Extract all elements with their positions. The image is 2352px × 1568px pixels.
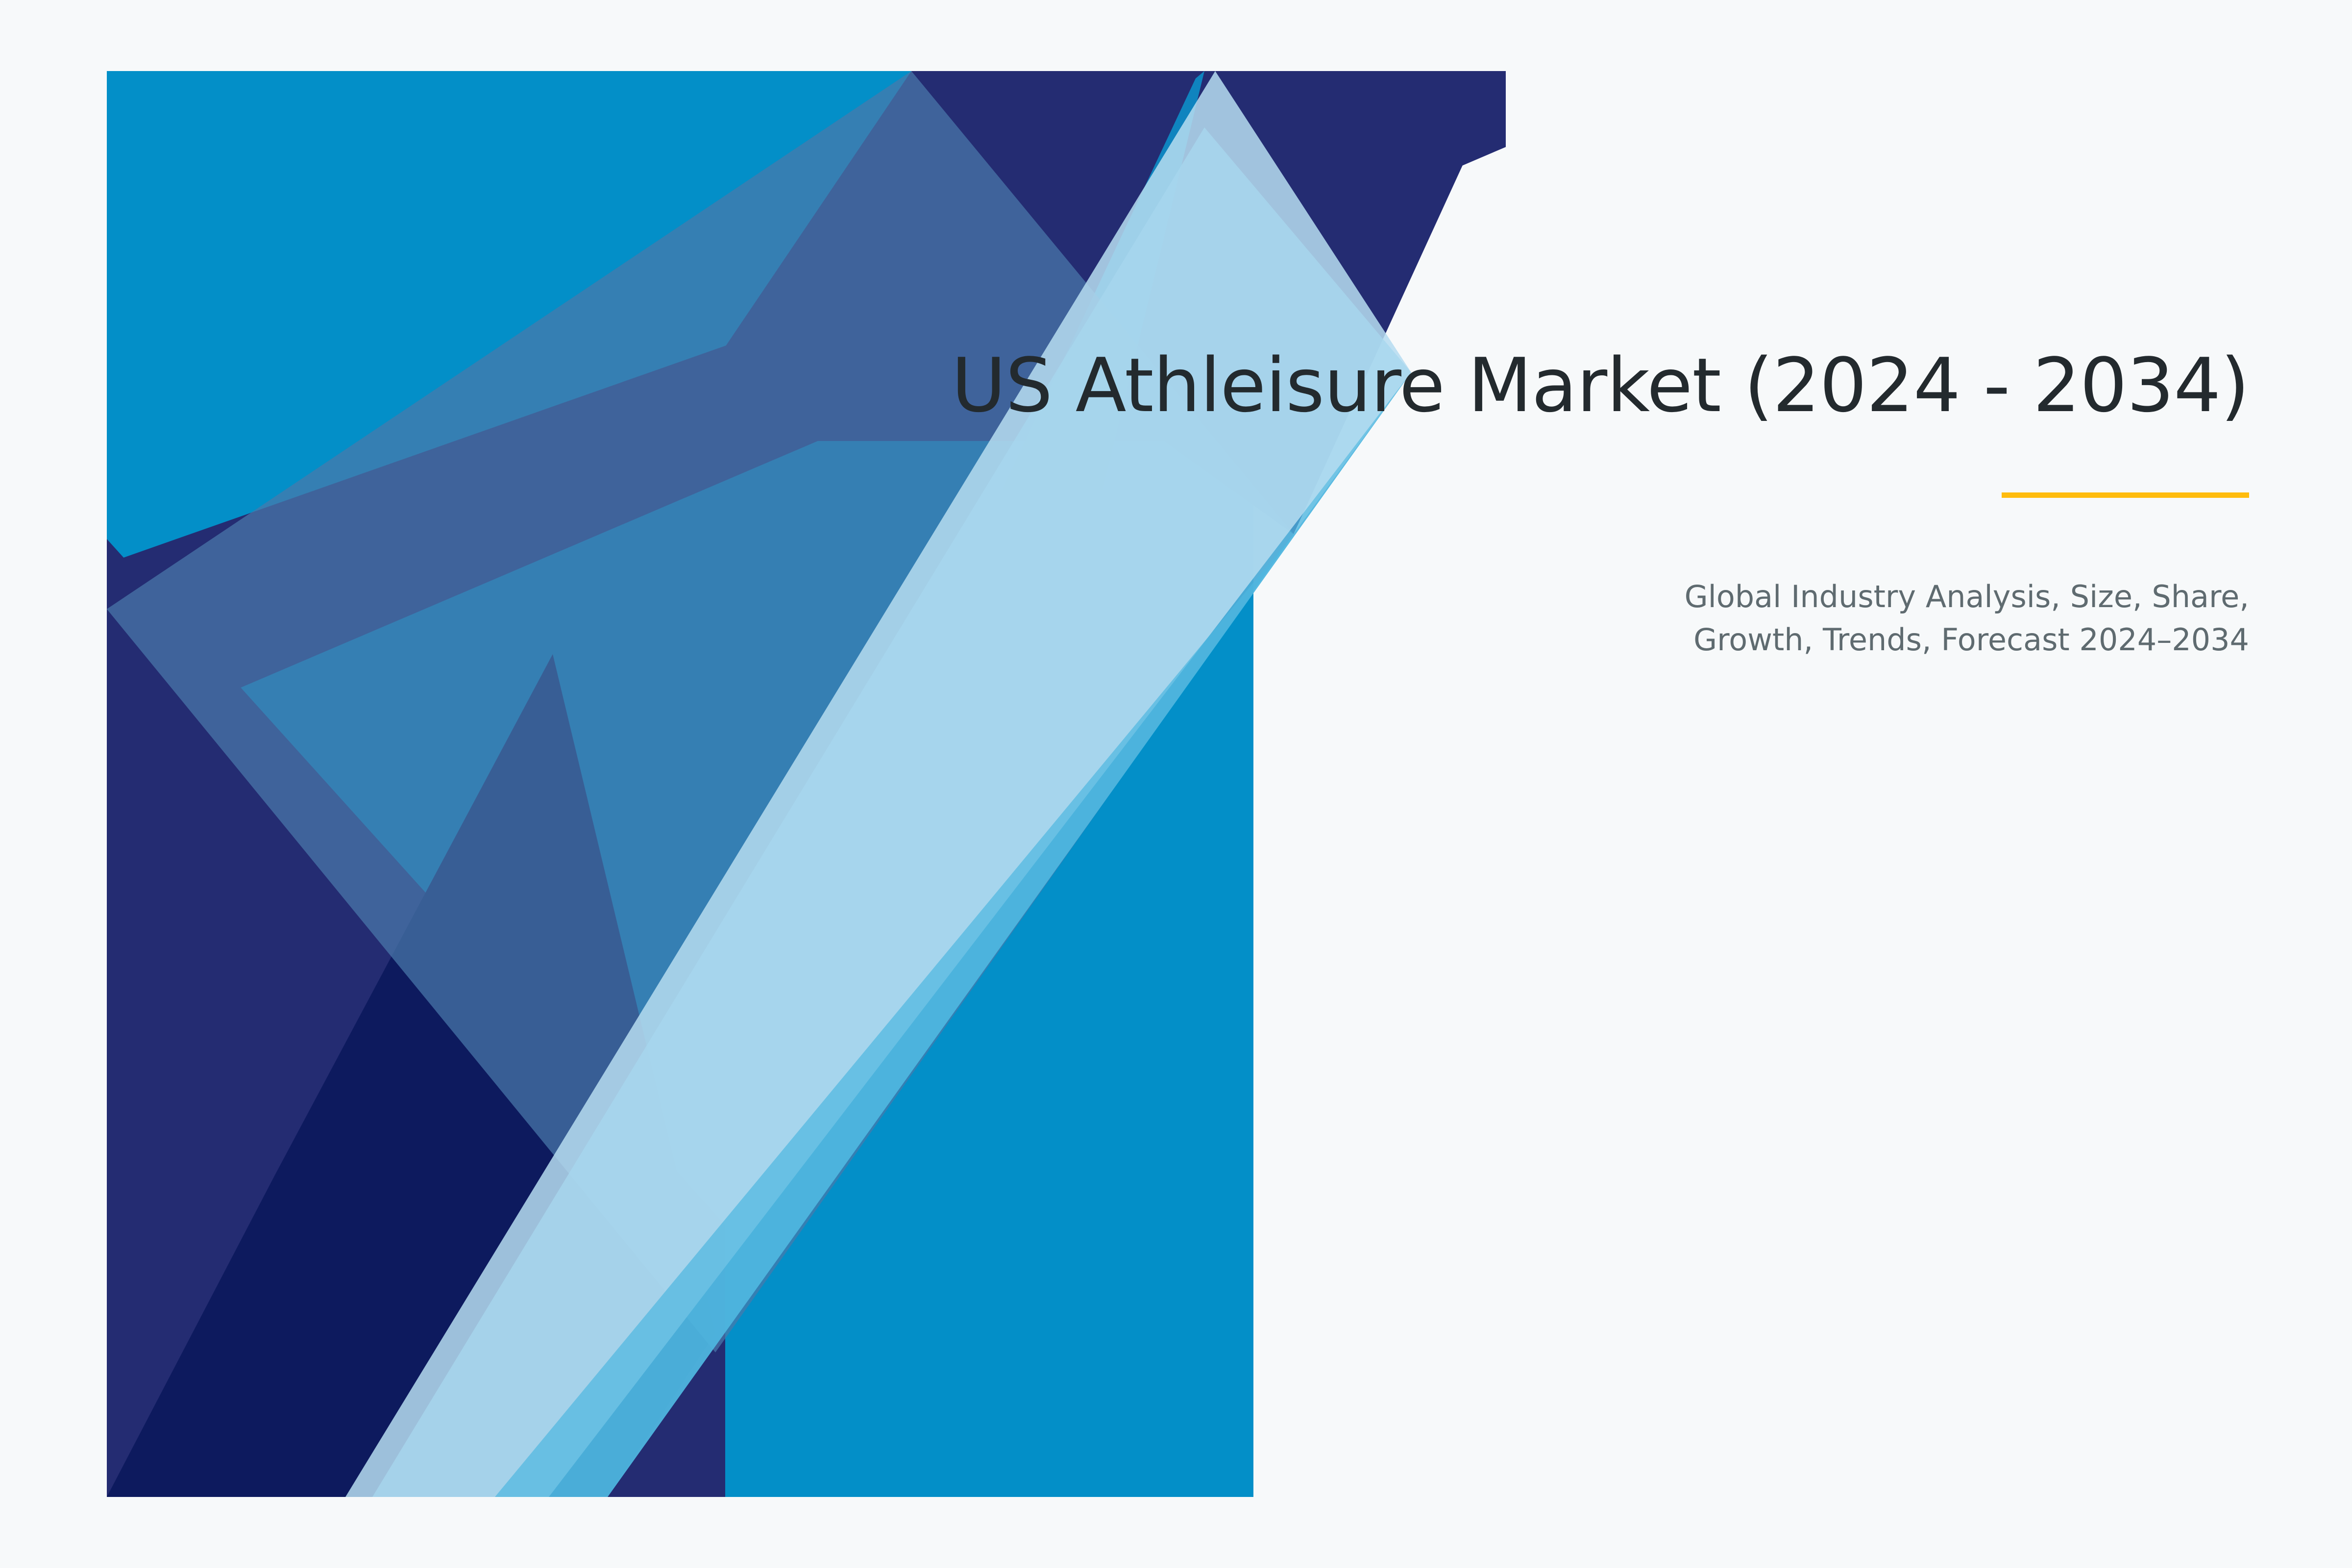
abstract-geometric-artwork [0, 0, 2352, 1568]
accent-rule-container [784, 492, 2249, 498]
accent-rule [2002, 492, 2249, 498]
cover-text-block: US Athleisure Market (2024 - 2034) Globa… [784, 343, 2249, 661]
page-title: US Athleisure Market (2024 - 2034) [784, 343, 2249, 429]
report-cover-page: US Athleisure Market (2024 - 2034) Globa… [0, 0, 2352, 1568]
page-subtitle: Global Industry Analysis, Size, Share, G… [1588, 575, 2249, 661]
